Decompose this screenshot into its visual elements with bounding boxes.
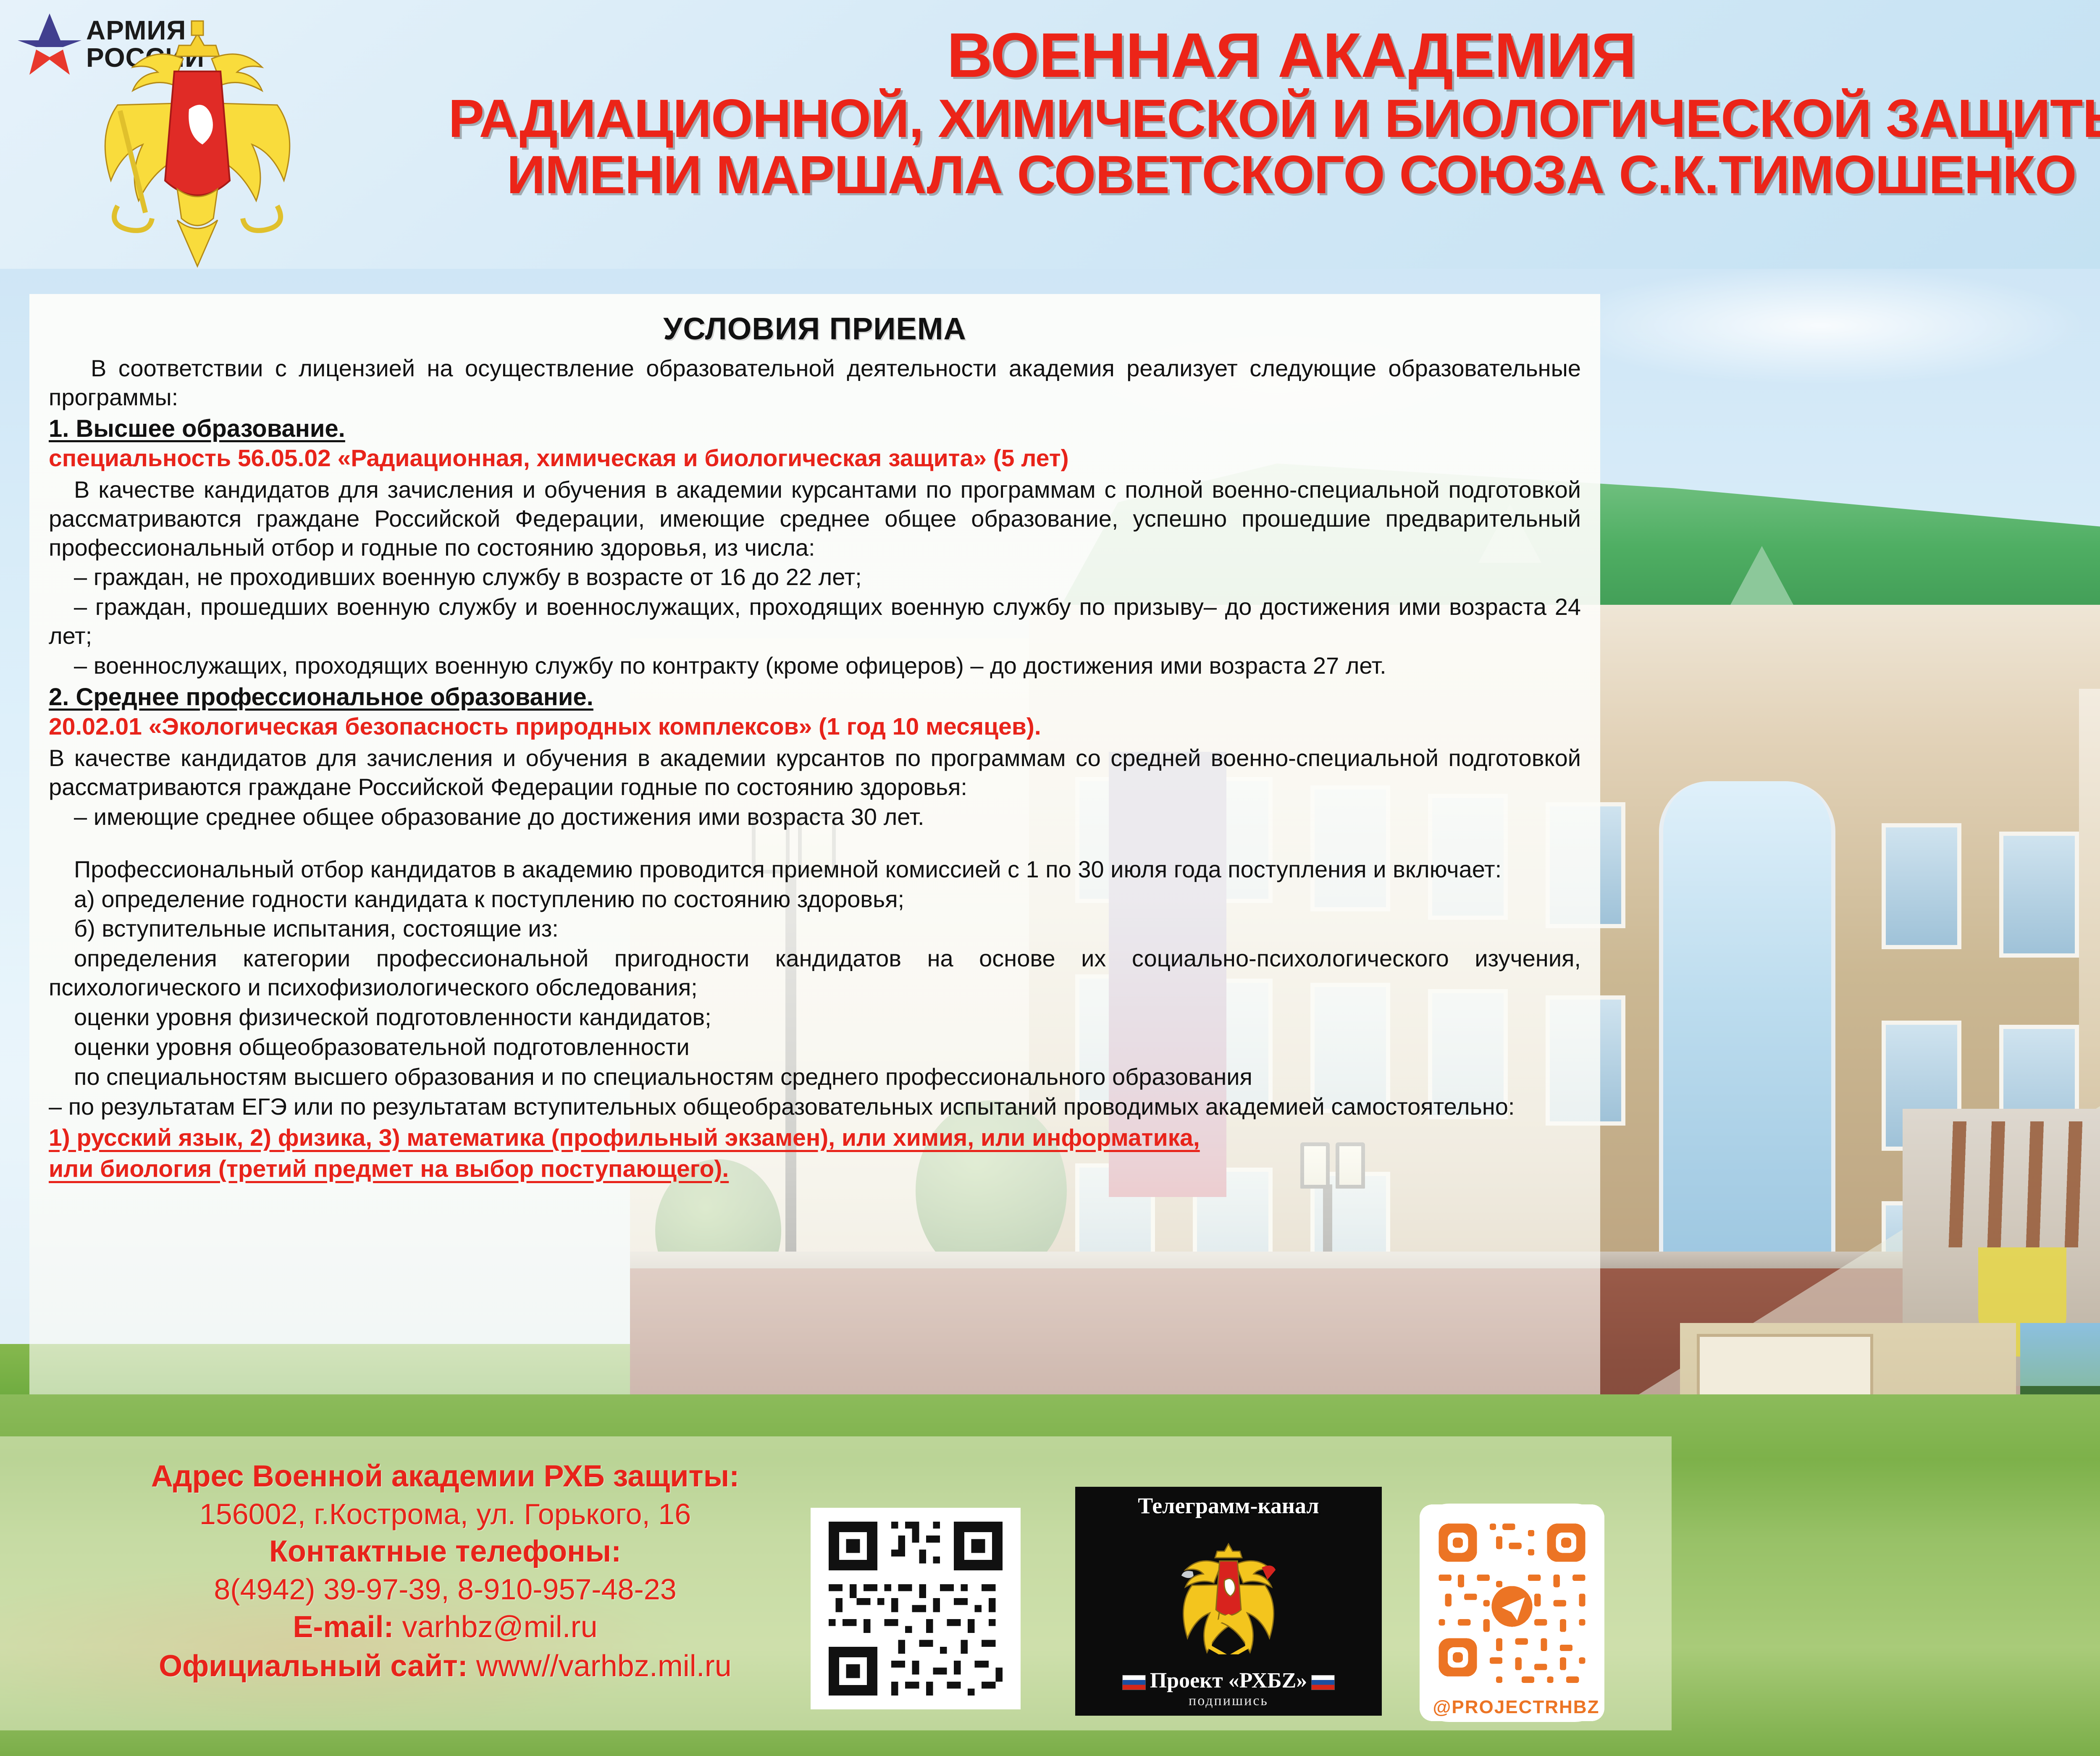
telegram-project-name: Проект «РХБZ»: [1150, 1669, 1307, 1693]
russian-mod-double-headed-eagle-emblem-icon: [67, 8, 328, 269]
exam-subjects-line-2: или биология (третий предмет на выбор по…: [49, 1153, 1581, 1184]
selection-item-1: а) определение годности кандидата к пост…: [49, 885, 1581, 914]
title-line-3: ИМЕНИ МАРШАЛА СОВЕТСКОГО СОЮЗА С.К.ТИМОШ…: [378, 147, 2100, 203]
title-line-2: РАДИАЦИОННОЙ, ХИМИЧЕСКОЙ И БИОЛОГИЧЕСКОЙ…: [378, 91, 2100, 147]
section2-specialty: 20.02.01 «Экологическая безопасность при…: [49, 713, 1581, 740]
intro-paragraph: В соответствии с лицензией на осуществле…: [49, 354, 1581, 412]
phones-value: 8(4942) 39-97-39, 8-910-957-48-23: [63, 1571, 827, 1608]
section2-body: В качестве кандидатов для зачисления и о…: [49, 744, 1581, 802]
contact-block: Адрес Военной академии РХБ защиты: 15600…: [63, 1457, 827, 1686]
selection-item-5: оценки уровня общеобразовательной подгот…: [49, 1033, 1581, 1062]
rhbz-eagle-emblem-icon: [1168, 1519, 1289, 1668]
page-title: ВОЕННАЯ АКАДЕМИЯ РАДИАЦИОННОЙ, ХИМИЧЕСКО…: [378, 23, 2100, 204]
address-label: Адрес Военной академии РХБ защиты:: [63, 1457, 827, 1496]
site-value[interactable]: www//varhbz.mil.ru: [476, 1649, 732, 1683]
selection-intro: Профессиональный отбор кандидатов в акад…: [49, 855, 1581, 884]
qr-handle-label: @PROJECTRHBZ: [1428, 1697, 1604, 1718]
section1-specialty: специальность 56.05.02 «Радиационная, хи…: [49, 444, 1581, 472]
qr-code-icon[interactable]: [811, 1508, 1021, 1709]
section1-body: В качестве кандидатов для зачисления и о…: [49, 475, 1581, 562]
telegram-subscribe-label: подпишись: [1118, 1693, 1339, 1709]
poster-header: АРМИЯ РОССИИ: [0, 0, 2100, 277]
address-value: 156002, г.Кострома, ул. Горького, 16: [63, 1496, 827, 1533]
russian-flag-icon: [1122, 1675, 1146, 1690]
poster-root: АРМИЯ РОССИИ: [0, 0, 2100, 1756]
selection-item-3: определения категории профессиональной п…: [49, 944, 1581, 1002]
telegram-qr-code-icon[interactable]: [1420, 1504, 1604, 1722]
email-value[interactable]: varhbz@mil.ru: [402, 1610, 597, 1644]
section1-title: 1. Высшее образование.: [49, 415, 1581, 443]
phones-label: Контактные телефоны:: [63, 1533, 827, 1571]
site-row: Официальный сайт: www//varhbz.mil.ru: [63, 1647, 827, 1686]
russian-flag-icon: [1311, 1675, 1335, 1690]
exam-basis-2: – по результатам ЕГЭ или по результатам …: [49, 1092, 1581, 1121]
telegram-channel-card[interactable]: Телеграмм-канал Проект «РХБZ»: [1075, 1487, 1382, 1716]
section1-item-3: – военнослужащих, проходящих военную слу…: [49, 651, 1581, 680]
site-label: Официальный сайт:: [159, 1649, 468, 1683]
section2-title: 2. Среднее профессиональное образование.: [49, 683, 1581, 711]
section2-item-1: – имеющие среднее общее образование до д…: [49, 803, 1581, 832]
exam-basis-1: по специальностям высшего образования и …: [49, 1063, 1581, 1092]
section-heading: УСЛОВИЯ ПРИЕМА: [49, 311, 1581, 346]
telegram-title: Телеграмм-канал: [1138, 1493, 1319, 1519]
title-line-1: ВОЕННАЯ АКАДЕМИЯ: [378, 23, 2100, 87]
admission-conditions-panel: УСЛОВИЯ ПРИЕМА В соответствии с лицензие…: [29, 294, 1600, 1394]
selection-item-4: оценки уровня физической подготовленност…: [49, 1003, 1581, 1032]
email-label: E-mail:: [293, 1610, 394, 1644]
email-row: E-mail: varhbz@mil.ru: [63, 1608, 827, 1647]
section1-item-2: – граждан, прошедших военную службу и во…: [49, 593, 1581, 651]
section1-item-1: – граждан, не проходивших военную службу…: [49, 563, 1581, 592]
exam-subjects-line-1: 1) русский язык, 2) физика, 3) математик…: [49, 1122, 1581, 1153]
selection-item-2: б) вступительные испытания, состоящие из…: [49, 914, 1581, 943]
